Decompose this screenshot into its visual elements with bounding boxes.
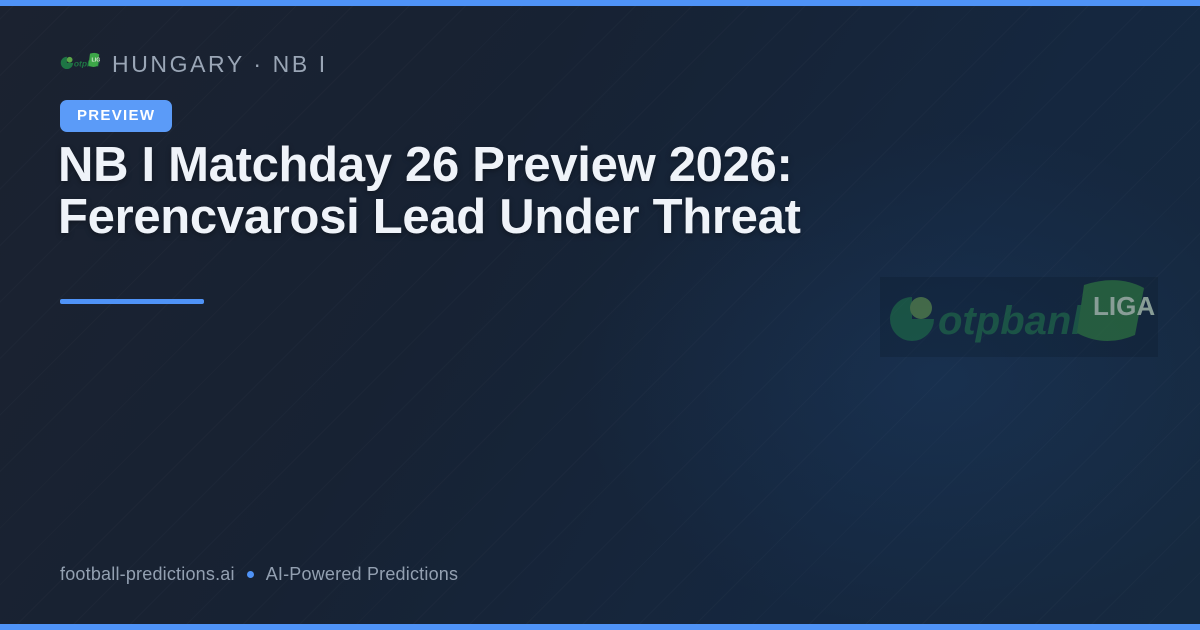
svg-text:LIGA: LIGA	[1093, 291, 1155, 321]
svg-text:LIGA: LIGA	[92, 58, 100, 64]
bullet-dot-icon	[247, 571, 254, 578]
og-share-card: otpbank LIGA HUNGARY · NB I PREVIEW NB I…	[0, 0, 1200, 630]
otpbank-liga-logo-icon: otpbank LIGA	[880, 277, 1158, 357]
footer-site-name: football-predictions.ai	[60, 564, 235, 585]
page-title-line-1: NB I Matchday 26 Preview 2026:	[58, 140, 938, 192]
footer: football-predictions.ai AI-Powered Predi…	[60, 564, 458, 585]
svg-text:otpbank: otpbank	[938, 299, 1095, 343]
footer-tagline: AI-Powered Predictions	[266, 564, 459, 585]
bottom-accent-bar	[0, 624, 1200, 630]
title-accent-rule	[60, 299, 204, 304]
top-accent-bar	[0, 0, 1200, 6]
otpbank-liga-logo-icon: otpbank LIGA	[60, 51, 100, 77]
league-label: HUNGARY · NB I	[112, 51, 328, 78]
page-title-line-2: Ferencvarosi Lead Under Threat	[58, 192, 938, 244]
status-badge: PREVIEW	[60, 100, 172, 132]
competition-watermark-logo: otpbank LIGA	[880, 277, 1158, 357]
page-title: NB I Matchday 26 Preview 2026: Ferencvar…	[58, 140, 938, 244]
league-header: otpbank LIGA HUNGARY · NB I	[60, 44, 328, 84]
